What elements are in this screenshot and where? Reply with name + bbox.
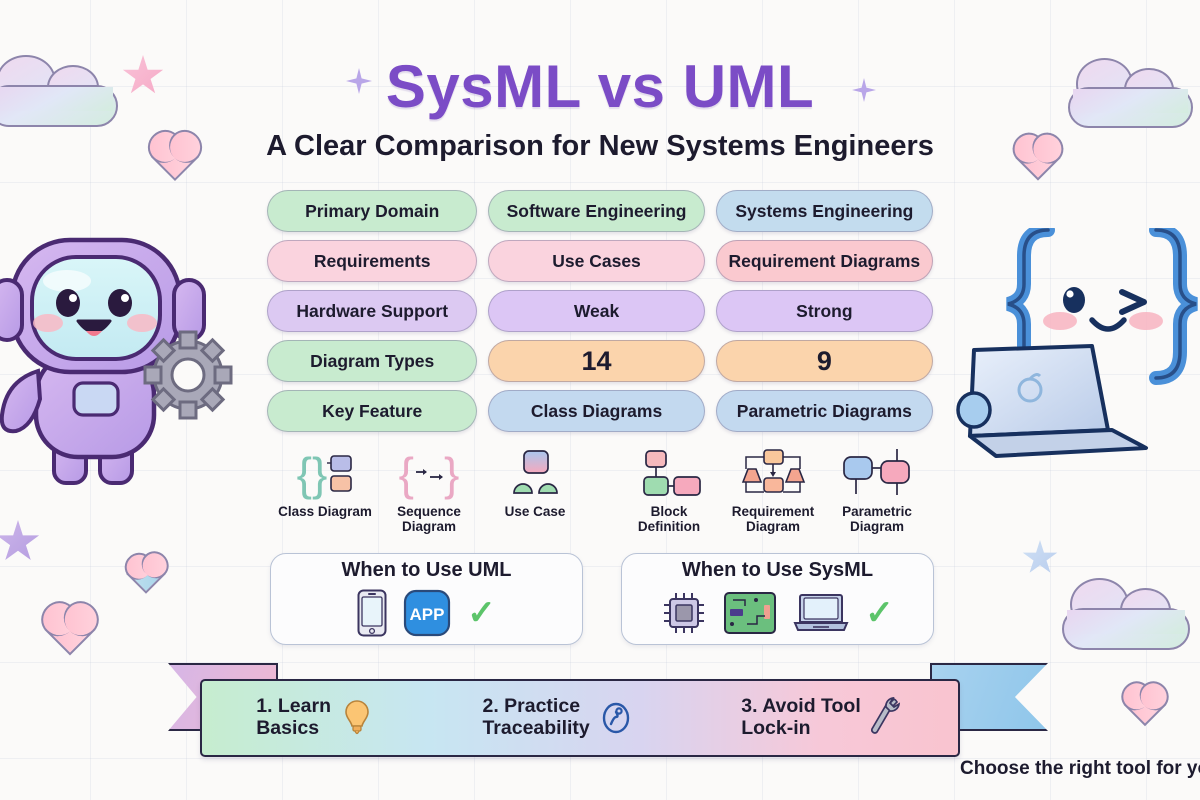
- sequence-arrows-icon: [414, 464, 444, 484]
- circuit-board-icon: [723, 591, 777, 635]
- class-boxes-icon: [327, 452, 353, 496]
- table-cell-sysml: Systems Engineering: [716, 190, 933, 232]
- requirement-diagram-icon: [740, 448, 806, 500]
- table-cell-uml: Software Engineering: [488, 190, 704, 232]
- table-row: Primary Domain Software Engineering Syst…: [267, 190, 933, 232]
- diagram-icon-block-definition: Block Definition: [615, 448, 723, 534]
- diagram-icon-use-case: Use Case: [481, 448, 589, 519]
- microchip-icon: [661, 590, 707, 636]
- robot-eye-left: [56, 289, 80, 317]
- cloud-decoration-bottom-right: [1062, 578, 1190, 650]
- when-to-use-sysml-panel: When to Use SysML: [621, 553, 934, 645]
- diagram-icon-label: Class Diagram: [278, 504, 372, 519]
- class-diagram-icon: { }: [297, 448, 354, 500]
- banner-body: 1. Learn Basics 2. Practice Traceability…: [200, 679, 960, 757]
- diagram-icon-strip: { } Class Diagram { }: [267, 448, 933, 544]
- banner-item-label: 3. Avoid Tool Lock-in: [741, 696, 861, 740]
- robot-eye-right: [108, 289, 132, 317]
- table-cell-uml: Use Cases: [488, 240, 704, 282]
- green-check-icon: ✓: [467, 596, 496, 630]
- tips-banner: 1. Learn Basics 2. Practice Traceability…: [0, 655, 1200, 775]
- laptop-icon: [958, 346, 1146, 456]
- mascot-mouth: [1092, 320, 1124, 329]
- robot-mascot: [0, 185, 252, 485]
- table-cell-sysml: Parametric Diagrams: [716, 390, 933, 432]
- banner-item-practice-traceability: 2. Practice Traceability: [482, 696, 632, 740]
- table-cell-feature: Primary Domain: [267, 190, 477, 232]
- when-to-use-uml-panel: When to Use UML APP ✓: [270, 553, 583, 645]
- infographic-canvas: SysML vs UML A Clear Comparison for New …: [0, 0, 1200, 800]
- banner-item-label: 2. Practice Traceability: [482, 696, 589, 740]
- diagram-icon-label: Block Definition: [638, 504, 700, 534]
- mascot-eye-open: [1063, 287, 1085, 313]
- page-title: SysML vs UML: [0, 52, 1200, 121]
- footnote-text: Choose the right tool for yo: [960, 758, 1200, 780]
- star-decoration-bottom-left: [0, 520, 40, 564]
- table-row: Diagram Types 14 9: [267, 340, 933, 382]
- diagram-icon-parametric-diagram: Parametric Diagram: [823, 448, 931, 534]
- banner-item-avoid-tool-lockin: 3. Avoid Tool Lock-in: [741, 696, 904, 740]
- table-cell-feature: Key Feature: [267, 390, 477, 432]
- diagram-icon-requirement-diagram: Requirement Diagram: [719, 448, 827, 534]
- gear-icon: [145, 332, 231, 418]
- panel-icon-row: ✓: [661, 582, 894, 644]
- comparison-table: Primary Domain Software Engineering Syst…: [267, 190, 933, 440]
- brace-right-icon: [1156, 230, 1196, 378]
- block-definition-icon: [634, 448, 704, 500]
- table-cell-sysml: 9: [716, 340, 933, 382]
- page-subtitle: A Clear Comparison for New Systems Engin…: [0, 130, 1200, 163]
- app-icon: APP: [403, 589, 451, 637]
- table-cell-feature: Requirements: [267, 240, 477, 282]
- diagram-icon-class-diagram: { } Class Diagram: [271, 448, 379, 519]
- table-cell-uml: Weak: [488, 290, 704, 332]
- banner-item-learn-basics: 1. Learn Basics: [256, 696, 374, 740]
- table-row: Requirements Use Cases Requirement Diagr…: [267, 240, 933, 282]
- star-decoration-bottom-right: [1022, 540, 1058, 576]
- table-row: Hardware Support Weak Strong: [267, 290, 933, 332]
- table-cell-feature: Diagram Types: [267, 340, 477, 382]
- smartphone-icon: [357, 589, 387, 637]
- lightbulb-icon: [340, 698, 374, 738]
- heart-decoration-mid-left: [45, 605, 96, 656]
- diagram-icon-label: Sequence Diagram: [397, 504, 461, 534]
- mascot-eye-wink: [1122, 292, 1144, 312]
- table-cell-uml: Class Diagrams: [488, 390, 704, 432]
- app-icon-label: APP: [410, 605, 445, 624]
- panel-title: When to Use UML: [342, 559, 512, 582]
- diagram-icon-sequence-diagram: { } Sequence Diagram: [375, 448, 483, 534]
- panel-title: When to Use SysML: [682, 559, 873, 582]
- panel-icon-row: APP ✓: [357, 582, 496, 644]
- use-case-icon: [506, 448, 564, 500]
- green-check-icon: ✓: [865, 596, 894, 630]
- sequence-diagram-icon: { }: [399, 448, 460, 500]
- curly-brace-mascot: [952, 228, 1200, 463]
- diagram-icon-label: Parametric Diagram: [842, 504, 912, 534]
- banner-item-label: 1. Learn Basics: [256, 696, 331, 740]
- heart-decoration-upper-left: [126, 554, 166, 594]
- table-cell-feature: Hardware Support: [267, 290, 477, 332]
- parametric-diagram-icon: [841, 448, 913, 500]
- laptop-icon: [793, 591, 849, 635]
- wrench-icon: [870, 696, 904, 740]
- table-cell-uml: 14: [488, 340, 704, 382]
- diagram-icon-label: Use Case: [505, 504, 566, 519]
- table-row: Key Feature Class Diagrams Parametric Di…: [267, 390, 933, 432]
- table-cell-sysml: Requirement Diagrams: [716, 240, 933, 282]
- link-icon: [599, 698, 633, 738]
- diagram-icon-label: Requirement Diagram: [732, 504, 815, 534]
- table-cell-sysml: Strong: [716, 290, 933, 332]
